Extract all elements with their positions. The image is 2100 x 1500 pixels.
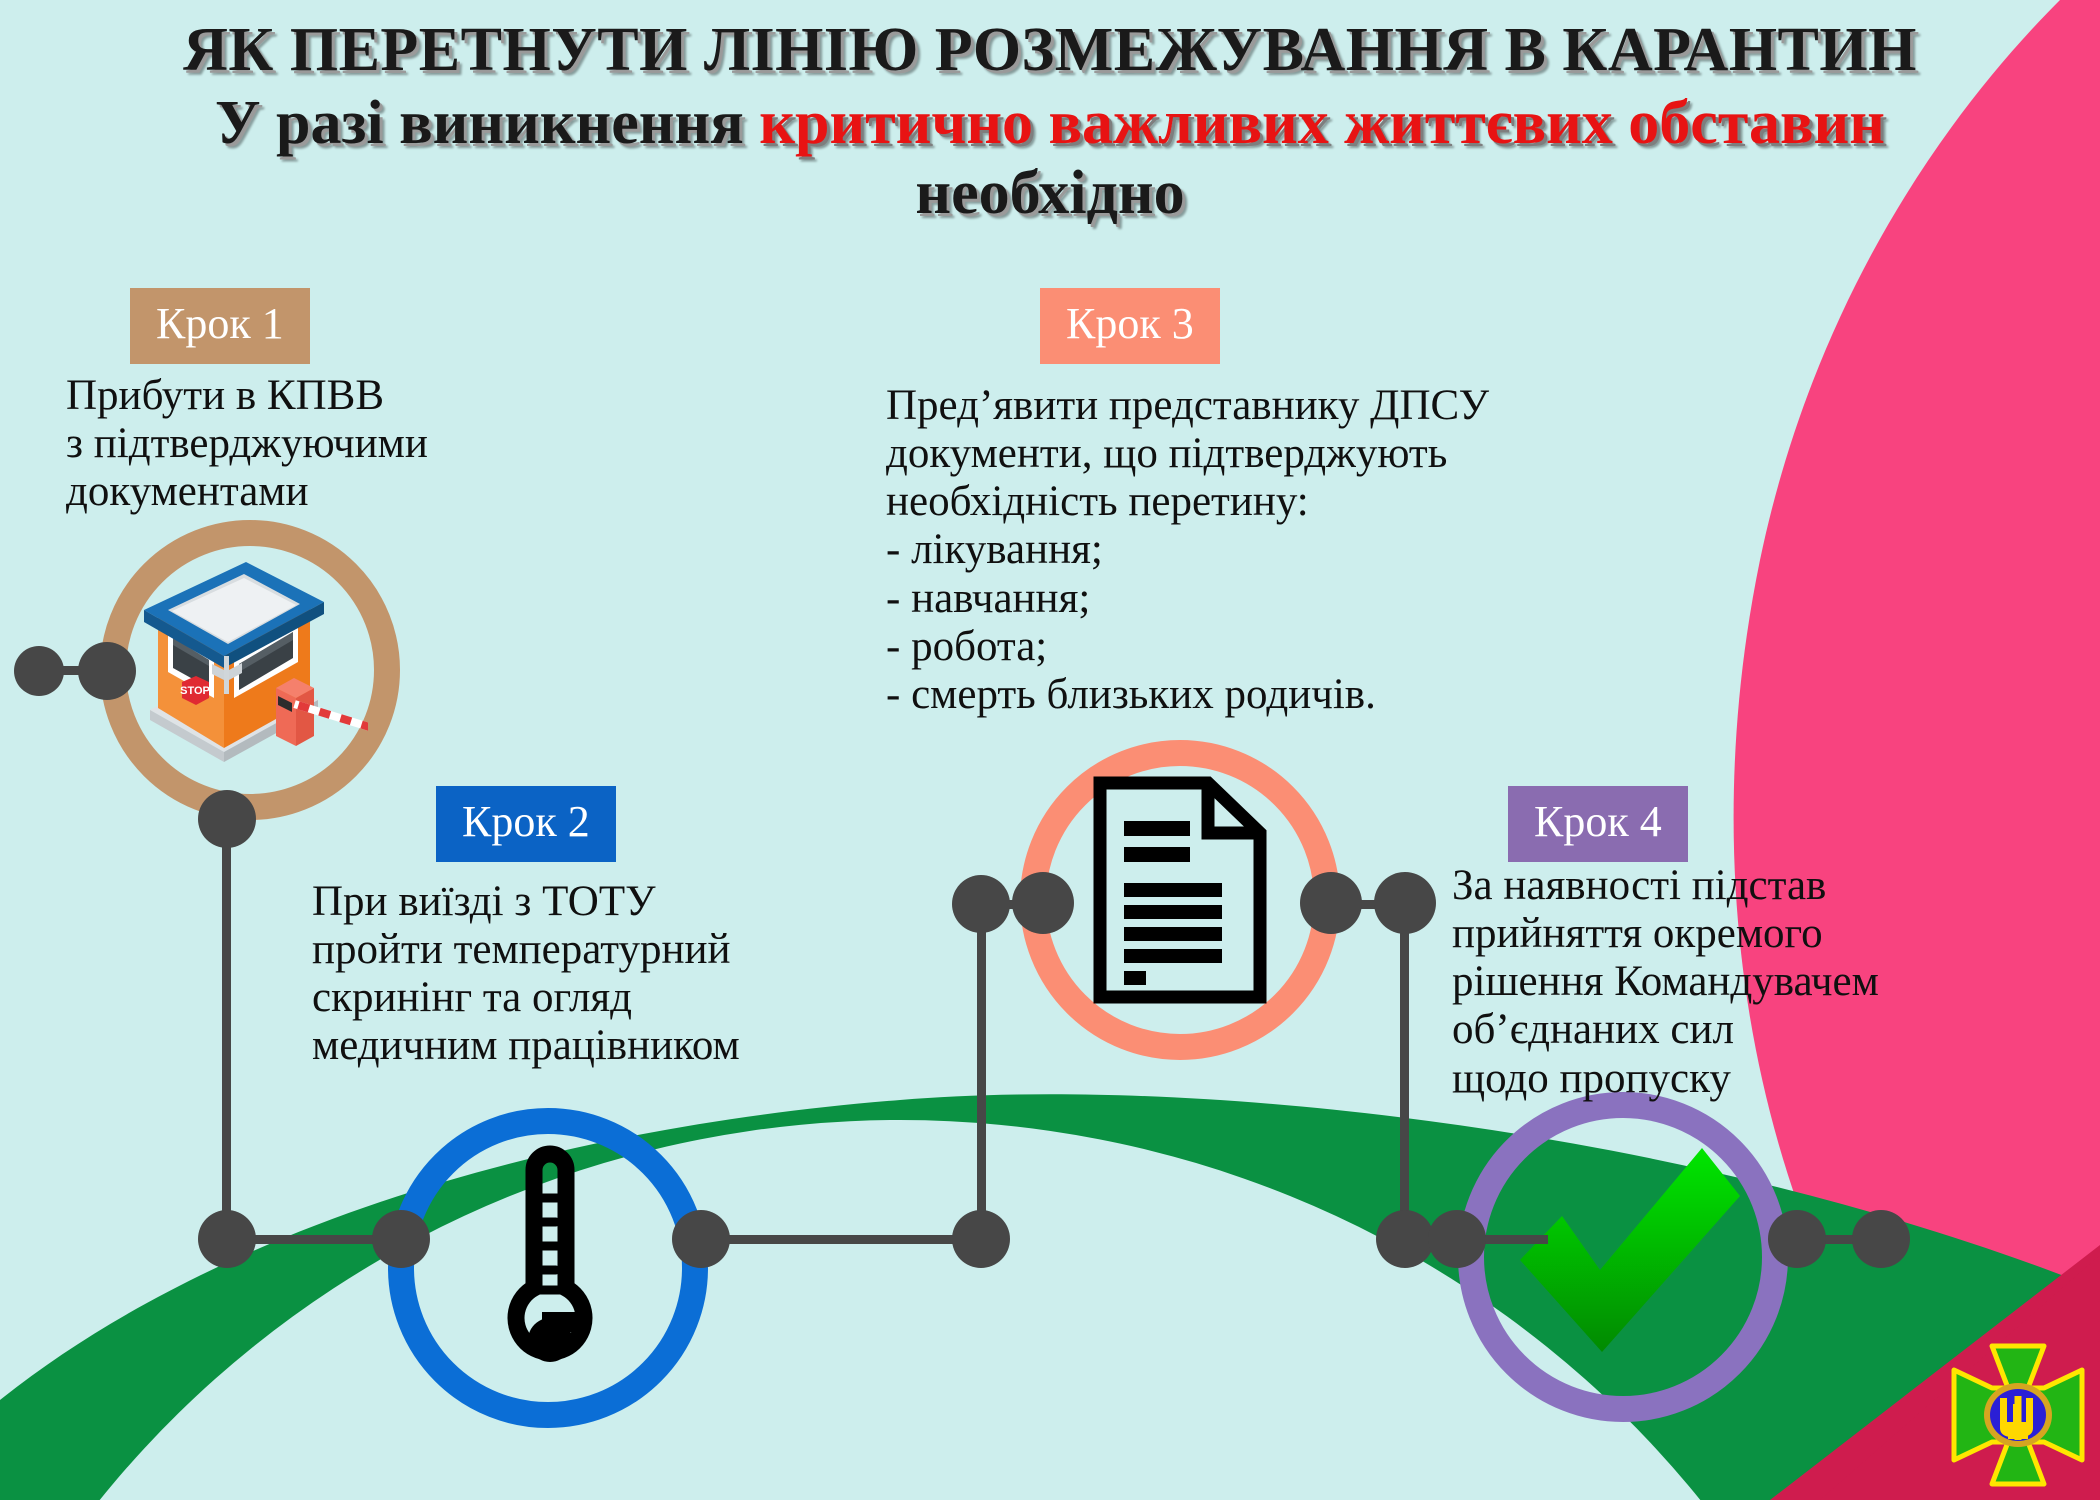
connector-node-4d bbox=[1768, 1210, 1826, 1268]
page-title-line2-prefix: У разі виникнення bbox=[215, 89, 759, 157]
connector-line-1-down bbox=[222, 805, 231, 1235]
page-title-line1: ЯК ПЕРЕТНУТИ ЛІНІЮ РОЗМЕЖУВАННЯ В КАРАНТ… bbox=[0, 18, 2100, 83]
connector-node-1c bbox=[198, 1210, 256, 1268]
checkpoint-booth-icon: STOP bbox=[128, 560, 368, 780]
connector-node-4a bbox=[1374, 872, 1436, 934]
ukraine-border-guard-emblem bbox=[1948, 1340, 2088, 1490]
step-text-4: За наявності підстав прийняття окремого … bbox=[1452, 862, 2072, 1103]
step-text-1: Прибути в КПВВ з підтверджуючими докумен… bbox=[66, 372, 626, 516]
step-badge-2: Крок 2 bbox=[436, 786, 616, 862]
step-text-3: Пред’явити представнику ДПСУ документи, … bbox=[886, 382, 1846, 719]
connector-node-4b bbox=[1376, 1210, 1434, 1268]
connector-node-3b bbox=[952, 875, 1010, 933]
step-badge-4: Крок 4 bbox=[1508, 786, 1688, 862]
thermometer-icon bbox=[490, 1140, 610, 1390]
document-icon bbox=[1090, 775, 1270, 1005]
page-title-line2-highlight: критично важливих життєвих обставин bbox=[759, 89, 1885, 157]
connector-line-4-down bbox=[1400, 905, 1409, 1235]
connector-line-1-2 bbox=[250, 1235, 390, 1244]
infographic-canvas: ЯК ПЕРЕТНУТИ ЛІНІЮ РОЗМЕЖУВАННЯ В КАРАНТ… bbox=[0, 0, 2100, 1500]
connector-node-2b bbox=[672, 1210, 730, 1268]
svg-text:STOP: STOP bbox=[180, 685, 210, 697]
connector-node-end bbox=[1852, 1210, 1910, 1268]
page-title-line2: У разі виникнення критично важливих житт… bbox=[0, 89, 2100, 158]
step-text-2: При виїзді з ТОТУ пройти температурний с… bbox=[312, 878, 932, 1071]
connector-node-1a bbox=[78, 642, 136, 700]
connector-node-3c bbox=[1012, 872, 1074, 934]
connector-line-2-3 bbox=[712, 1235, 962, 1244]
step-badge-1: Крок 1 bbox=[130, 288, 310, 364]
connector-line-3-up bbox=[977, 900, 986, 1230]
step-badge-3: Крок 3 bbox=[1040, 288, 1220, 364]
header: ЯК ПЕРЕТНУТИ ЛІНІЮ РОЗМЕЖУВАННЯ В КАРАНТ… bbox=[0, 18, 2100, 227]
page-title-line3: необхідно bbox=[0, 159, 2100, 227]
connector-node-1b bbox=[198, 790, 256, 848]
green-checkmark-icon bbox=[1490, 1120, 1760, 1390]
connector-node-3d bbox=[1300, 872, 1362, 934]
connector-node-2a bbox=[372, 1210, 430, 1268]
connector-node-4c bbox=[1428, 1210, 1486, 1268]
connector-node-3a bbox=[952, 1210, 1010, 1268]
connector-node-start bbox=[14, 646, 64, 696]
